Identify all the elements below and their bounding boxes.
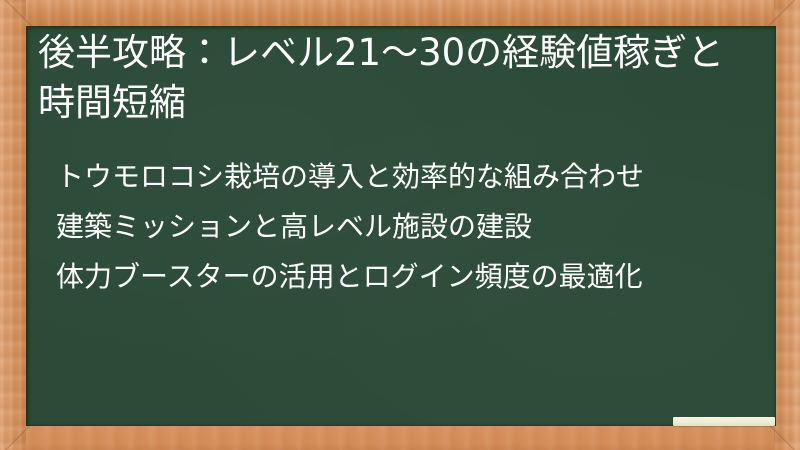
chalkboard-slide: 後半攻略：レベル21〜30の経験値稼ぎと時間短縮 トウモロコシ栽培の導入と効率的… [0, 0, 800, 450]
chalkboard-content: 後半攻略：レベル21〜30の経験値稼ぎと時間短縮 トウモロコシ栽培の導入と効率的… [26, 26, 776, 426]
chalk-stick [673, 417, 775, 426]
bullet-list: トウモロコシ栽培の導入と効率的な組み合わせ 建築ミッションと高レベル施設の建設 … [56, 152, 756, 302]
frame-rail-right [774, 0, 800, 450]
frame-rail-bottom-ledge [0, 426, 800, 450]
list-item: 体力ブースターの活用とログイン頻度の最適化 [56, 252, 756, 302]
chalkboard-surface: 後半攻略：レベル21〜30の経験値稼ぎと時間短縮 トウモロコシ栽培の導入と効率的… [26, 26, 776, 426]
slide-title: 後半攻略：レベル21〜30の経験値稼ぎと時間短縮 [38, 28, 756, 128]
frame-rail-top [0, 0, 800, 26]
list-item: トウモロコシ栽培の導入と効率的な組み合わせ [56, 152, 756, 202]
frame-rail-left [0, 0, 26, 450]
list-item: 建築ミッションと高レベル施設の建設 [56, 202, 756, 252]
